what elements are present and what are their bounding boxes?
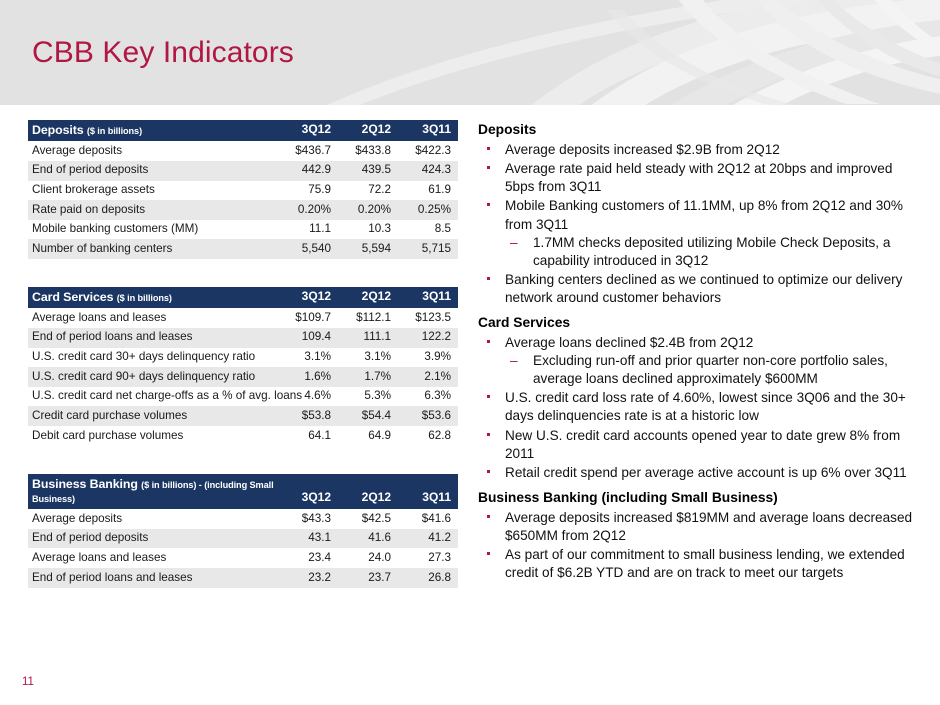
row-value: 26.8 — [398, 568, 458, 588]
dash-icon: – — [510, 234, 518, 252]
page-number: 11 — [22, 676, 34, 688]
deposits-col-2q12: 2Q12 — [338, 120, 398, 141]
card-services-col-3q11: 3Q11 — [398, 287, 458, 308]
row-value: 72.2 — [338, 181, 398, 201]
commentary-heading-deposits: Deposits — [478, 121, 918, 138]
card-services-table-unit: ($ in billions) — [117, 293, 172, 303]
table-row: Number of banking centers 5,540 5,594 5,… — [28, 239, 458, 259]
row-value: 23.7 — [338, 568, 398, 588]
row-value: 0.20% — [338, 200, 398, 220]
deposits-col-3q11: 3Q11 — [398, 120, 458, 141]
list-item: As part of our commitment to small busin… — [478, 546, 918, 582]
table-row: Average loans and leases $109.7 $112.1 $… — [28, 308, 458, 328]
table-row: Average deposits $436.7 $433.8 $422.3 — [28, 141, 458, 161]
row-label: Average deposits — [28, 141, 278, 161]
row-value: 62.8 — [398, 426, 458, 446]
row-label: Rate paid on deposits — [28, 200, 278, 220]
row-value: 24.0 — [338, 548, 398, 568]
row-value: $53.8 — [278, 406, 338, 426]
card-services-table: Card Services ($ in billions) 3Q12 2Q12 … — [28, 287, 458, 446]
row-label: U.S. credit card 90+ days delinquency ra… — [28, 367, 278, 387]
row-label: End of period loans and leases — [28, 328, 278, 348]
list-item: Average deposits increased $819MM and av… — [478, 509, 918, 545]
card-services-table-header-row: Card Services ($ in billions) 3Q12 2Q12 … — [28, 287, 458, 308]
bullet-text: Average loans declined $2.4B from 2Q12 — [505, 335, 753, 350]
row-value: 8.5 — [398, 220, 458, 240]
commentary-heading-business-banking: Business Banking (including Small Busine… — [478, 489, 918, 506]
table-row: Average loans and leases 23.4 24.0 27.3 — [28, 548, 458, 568]
row-value: 43.1 — [278, 529, 338, 549]
deposits-table-header-row: Deposits ($ in billions) 3Q12 2Q12 3Q11 — [28, 120, 458, 141]
bullet-text: Retail credit spend per average active a… — [505, 465, 907, 480]
row-value: 75.9 — [278, 181, 338, 201]
row-value: 5.3% — [338, 387, 398, 407]
bullet-text: Average deposits increased $819MM and av… — [505, 510, 912, 543]
row-value: 11.1 — [278, 220, 338, 240]
row-label: End of period deposits — [28, 529, 278, 549]
bullet-text: Average deposits increased $2.9B from 2Q… — [505, 142, 780, 157]
row-value: 111.1 — [338, 328, 398, 348]
row-label: Average deposits — [28, 509, 278, 529]
commentary-list-deposits: Average deposits increased $2.9B from 2Q… — [478, 141, 918, 307]
row-value: 0.25% — [398, 200, 458, 220]
row-label: U.S. credit card net charge-offs as a % … — [28, 387, 278, 407]
row-value: $41.6 — [398, 509, 458, 529]
bullet-icon — [487, 470, 490, 473]
row-value: 1.6% — [278, 367, 338, 387]
business-banking-table-header-row: Business Banking ($ in billions) - (incl… — [28, 474, 458, 510]
row-value: 41.6 — [338, 529, 398, 549]
sub-bullet-text: Excluding run-off and prior quarter non-… — [533, 353, 888, 386]
row-value: 2.1% — [398, 367, 458, 387]
row-value: 424.3 — [398, 161, 458, 181]
bullet-text: Average rate paid held steady with 2Q12 … — [505, 161, 892, 194]
list-item: Average loans declined $2.4B from 2Q12 –… — [478, 334, 918, 388]
sub-list-item: – 1.7MM checks deposited utilizing Mobil… — [505, 234, 918, 270]
bullet-icon — [487, 433, 490, 436]
row-label: Credit card purchase volumes — [28, 406, 278, 426]
row-value: 5,594 — [338, 239, 398, 259]
bullet-icon — [487, 147, 490, 150]
business-banking-table-title-text: Business Banking — [32, 477, 138, 491]
bullet-text: Banking centers declined as we continued… — [505, 272, 902, 305]
deposits-col-3q12: 3Q12 — [278, 120, 338, 141]
row-value: 5,715 — [398, 239, 458, 259]
row-value: $422.3 — [398, 141, 458, 161]
commentary-sublist: – Excluding run-off and prior quarter no… — [505, 352, 918, 388]
row-value: 3.9% — [398, 348, 458, 368]
bullet-icon — [487, 277, 490, 280]
list-item: U.S. credit card loss rate of 4.60%, low… — [478, 389, 918, 425]
row-label: End of period deposits — [28, 161, 278, 181]
business-banking-table: Business Banking ($ in billions) - (incl… — [28, 474, 458, 588]
business-banking-col-3q12: 3Q12 — [278, 474, 338, 510]
table-row: U.S. credit card 90+ days delinquency ra… — [28, 367, 458, 387]
row-value: $436.7 — [278, 141, 338, 161]
bullet-text: Mobile Banking customers of 11.1MM, up 8… — [505, 198, 903, 231]
row-label: Mobile banking customers (MM) — [28, 220, 278, 240]
row-value: 6.3% — [398, 387, 458, 407]
table-row: Debit card purchase volumes 64.1 64.9 62… — [28, 426, 458, 446]
deposits-table-title-text: Deposits — [32, 123, 84, 137]
commentary-list-business-banking: Average deposits increased $819MM and av… — [478, 509, 918, 582]
row-label: Client brokerage assets — [28, 181, 278, 201]
row-value: $42.5 — [338, 509, 398, 529]
card-services-col-2q12: 2Q12 — [338, 287, 398, 308]
commentary-heading-card-services: Card Services — [478, 314, 918, 331]
row-value: 27.3 — [398, 548, 458, 568]
table-row: Mobile banking customers (MM) 11.1 10.3 … — [28, 220, 458, 240]
row-value: 439.5 — [338, 161, 398, 181]
commentary-list-card-services: Average loans declined $2.4B from 2Q12 –… — [478, 334, 918, 482]
table-row: U.S. credit card net charge-offs as a % … — [28, 387, 458, 407]
list-item: Average rate paid held steady with 2Q12 … — [478, 160, 918, 196]
bullet-icon — [487, 395, 490, 398]
row-value: $112.1 — [338, 308, 398, 328]
card-services-table-title-text: Card Services — [32, 290, 113, 304]
business-banking-col-3q11: 3Q11 — [398, 474, 458, 510]
table-row: Rate paid on deposits 0.20% 0.20% 0.25% — [28, 200, 458, 220]
row-value: 122.2 — [398, 328, 458, 348]
table-row: Average deposits $43.3 $42.5 $41.6 — [28, 509, 458, 529]
row-value: 3.1% — [278, 348, 338, 368]
bullet-text: New U.S. credit card accounts opened yea… — [505, 428, 900, 461]
commentary-column: Deposits Average deposits increased $2.9… — [478, 121, 918, 583]
slide-header-band: CBB Key Indicators — [0, 0, 940, 105]
bullet-icon — [487, 166, 490, 169]
row-value: 41.2 — [398, 529, 458, 549]
list-item: Mobile Banking customers of 11.1MM, up 8… — [478, 197, 918, 269]
slide-root: CBB Key Indicators Deposits ($ in billio… — [0, 0, 940, 705]
card-services-table-title: Card Services ($ in billions) — [28, 287, 278, 308]
row-value: $43.3 — [278, 509, 338, 529]
table-row: Credit card purchase volumes $53.8 $54.4… — [28, 406, 458, 426]
bullet-icon — [487, 203, 490, 206]
sub-bullet-text: 1.7MM checks deposited utilizing Mobile … — [533, 235, 890, 268]
business-banking-col-2q12: 2Q12 — [338, 474, 398, 510]
row-value: 10.3 — [338, 220, 398, 240]
bullet-icon — [487, 552, 490, 555]
row-value: 1.7% — [338, 367, 398, 387]
bullet-icon — [487, 340, 490, 343]
bullet-text: U.S. credit card loss rate of 4.60%, low… — [505, 390, 906, 423]
deposits-table-title: Deposits ($ in billions) — [28, 120, 278, 141]
row-value: $54.4 — [338, 406, 398, 426]
row-value: 109.4 — [278, 328, 338, 348]
row-value: 442.9 — [278, 161, 338, 181]
sub-list-item: – Excluding run-off and prior quarter no… — [505, 352, 918, 388]
deposits-table: Deposits ($ in billions) 3Q12 2Q12 3Q11 … — [28, 120, 458, 259]
row-label: Number of banking centers — [28, 239, 278, 259]
row-value: 23.2 — [278, 568, 338, 588]
page-title: CBB Key Indicators — [32, 36, 294, 70]
row-value: $433.8 — [338, 141, 398, 161]
table-row: End of period deposits 43.1 41.6 41.2 — [28, 529, 458, 549]
row-value: 0.20% — [278, 200, 338, 220]
table-row: End of period loans and leases 109.4 111… — [28, 328, 458, 348]
card-services-col-3q12: 3Q12 — [278, 287, 338, 308]
row-value: 61.9 — [398, 181, 458, 201]
list-item: Retail credit spend per average active a… — [478, 464, 918, 482]
row-label: End of period loans and leases — [28, 568, 278, 588]
list-item: New U.S. credit card accounts opened yea… — [478, 427, 918, 463]
table-row: U.S. credit card 30+ days delinquency ra… — [28, 348, 458, 368]
bullet-icon — [487, 515, 490, 518]
dash-icon: – — [510, 352, 518, 370]
row-value: 64.9 — [338, 426, 398, 446]
list-item: Banking centers declined as we continued… — [478, 271, 918, 307]
row-value: 5,540 — [278, 239, 338, 259]
table-row: Client brokerage assets 75.9 72.2 61.9 — [28, 181, 458, 201]
row-value: $123.5 — [398, 308, 458, 328]
tables-column: Deposits ($ in billions) 3Q12 2Q12 3Q11 … — [28, 120, 458, 616]
row-label: Average loans and leases — [28, 308, 278, 328]
row-value: 23.4 — [278, 548, 338, 568]
table-row: End of period loans and leases 23.2 23.7… — [28, 568, 458, 588]
deposits-table-unit: ($ in billions) — [87, 126, 142, 136]
row-value: 64.1 — [278, 426, 338, 446]
list-item: Average deposits increased $2.9B from 2Q… — [478, 141, 918, 159]
commentary-sublist: – 1.7MM checks deposited utilizing Mobil… — [505, 234, 918, 270]
row-value: 3.1% — [338, 348, 398, 368]
row-value: $109.7 — [278, 308, 338, 328]
table-row: End of period deposits 442.9 439.5 424.3 — [28, 161, 458, 181]
bullet-text: As part of our commitment to small busin… — [505, 547, 905, 580]
row-value: $53.6 — [398, 406, 458, 426]
row-label: Debit card purchase volumes — [28, 426, 278, 446]
row-label: Average loans and leases — [28, 548, 278, 568]
row-label: U.S. credit card 30+ days delinquency ra… — [28, 348, 278, 368]
business-banking-table-title: Business Banking ($ in billions) - (incl… — [28, 474, 278, 510]
